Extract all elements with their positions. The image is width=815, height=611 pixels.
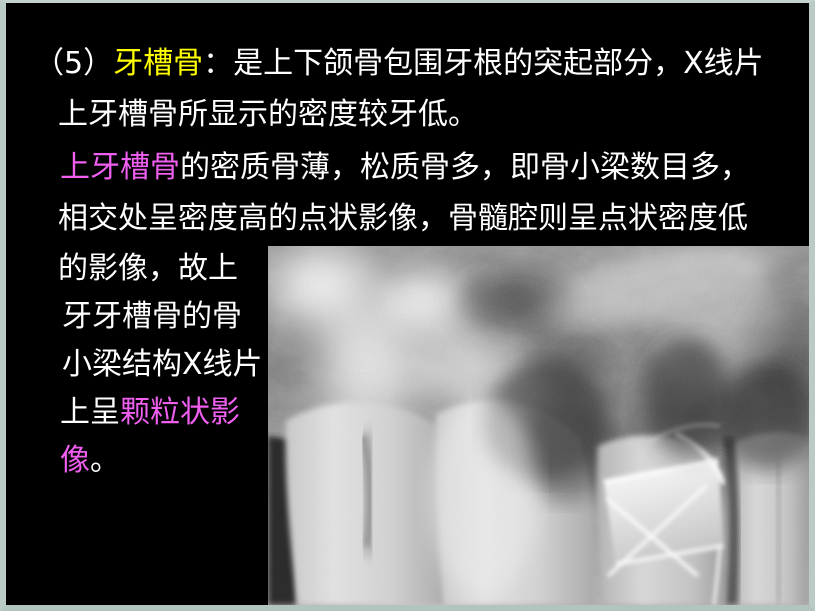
slide-canvas: （5）牙槽骨：是上下颌骨包围牙根的突起部分，X线片 上牙槽骨所显示的密度较牙低。… xyxy=(6,3,809,605)
text-line-9-rest: 。 xyxy=(90,443,120,478)
presentation-slide: （5）牙槽骨：是上下颌骨包围牙根的突起部分，X线片 上牙槽骨所显示的密度较牙低。… xyxy=(0,0,815,611)
term-granular-image-magenta-cont: 像 xyxy=(60,443,90,478)
term-granular-image-magenta: 颗粒状影 xyxy=(120,395,240,430)
text-line-1-rest: ：是上下颌骨包围牙根的突起部分，X线片 xyxy=(203,46,764,81)
term-maxillary-alveolar-bone-magenta: 上牙槽骨 xyxy=(60,150,180,185)
text-line-6: 牙牙槽骨的骨 xyxy=(62,300,242,334)
text-line-7: 小梁结构X线片 xyxy=(62,348,263,382)
text-line-1: （5）牙槽骨：是上下颌骨包围牙根的突起部分，X线片 xyxy=(34,47,764,81)
text-line-4: 相交处呈密度高的点状影像，骨髓腔则呈点状密度低 xyxy=(58,202,748,236)
text-line-8-prefix: 上呈 xyxy=(60,395,120,430)
text-line-9: 像。 xyxy=(60,444,120,478)
text-line-3: 上牙槽骨的密质骨薄，松质骨多，即骨小梁数目多， xyxy=(60,151,750,185)
text-line-2: 上牙槽骨所显示的密度较牙低。 xyxy=(58,98,478,132)
text-line-3-rest: 的密质骨薄，松质骨多，即骨小梁数目多， xyxy=(180,150,750,185)
dental-xray-image xyxy=(268,246,809,605)
term-alveolar-bone-yellow: 牙槽骨 xyxy=(113,46,203,81)
text-line-8: 上呈颗粒状影 xyxy=(60,396,240,430)
radiograph-graphic xyxy=(268,246,809,605)
list-number: （5） xyxy=(34,46,113,81)
text-line-5: 的影像，故上 xyxy=(58,252,238,286)
